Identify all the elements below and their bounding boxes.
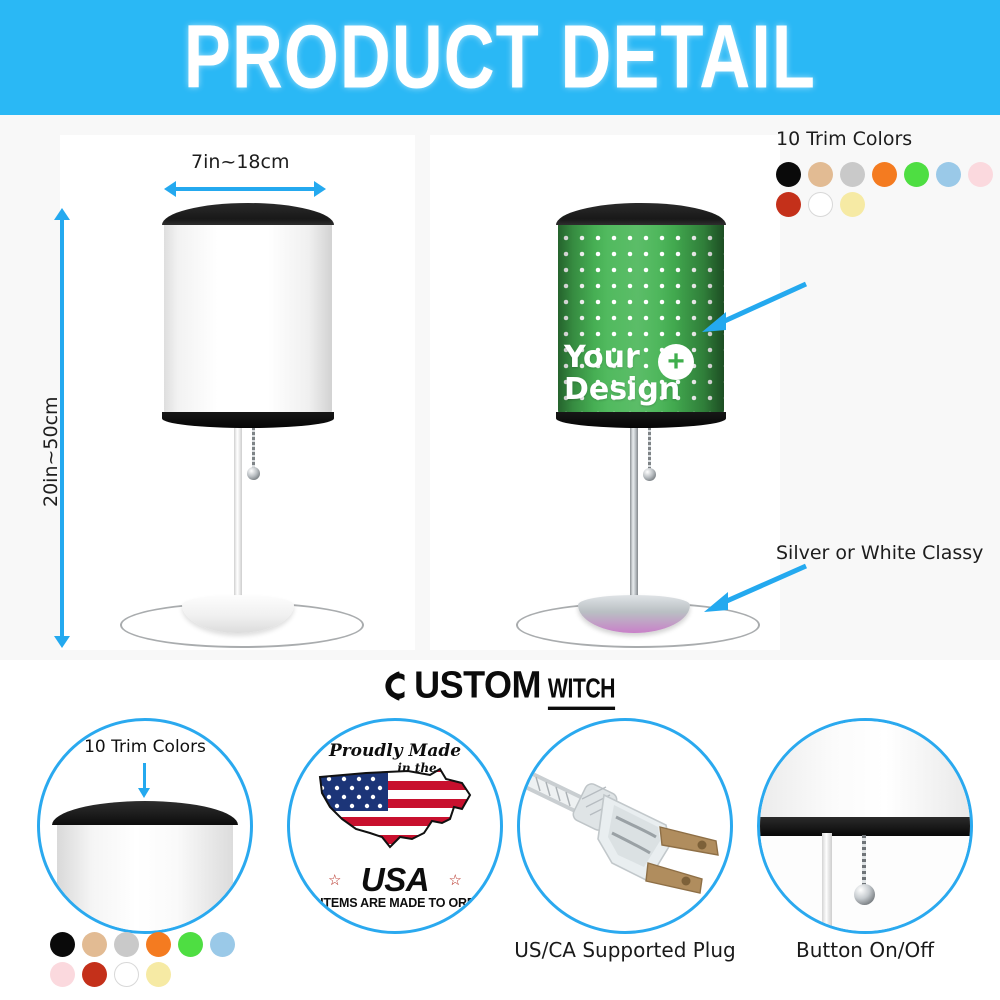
lamp-showcase: 7in~18cm 20in~50cm [0,115,1000,660]
trim-color-swatch-yellow[interactable] [840,192,865,217]
feature-trim-colors: 10 Trim Colors [20,710,270,1000]
trim-color-swatch-red[interactable] [776,192,801,217]
trim-colors-swatch-row[interactable] [776,162,1000,222]
header-banner: PRODUCT DETAIL [0,0,1000,115]
product-detail-page: PRODUCT DETAIL 7in~18cm 20in~50cm [0,0,1000,1000]
usa-badge-line1: Proudly Made [329,743,461,760]
usa-note: ALL ITEMS ARE MADE TO ORDER! [290,896,500,910]
trim-color-swatch-red[interactable] [82,962,107,987]
trim-colors-shade-closeup [52,801,238,934]
trim-color-swatch-white[interactable] [808,192,833,217]
height-dimension-label: 20in~50cm [40,396,62,507]
white-shade-trim-top [162,203,334,225]
page-title: PRODUCT DETAIL [184,13,816,103]
trim-colors-photo-circle: 10 Trim Colors [37,718,253,934]
feature-made-in-usa: Proudly Made in the [270,710,520,1000]
trim-color-swatch-gray[interactable] [114,932,139,957]
trim-color-swatch-orange[interactable] [146,932,171,957]
feature-row: 10 Trim Colors Proudly Made in the [0,710,1000,1000]
trim-color-swatch-green[interactable] [178,932,203,957]
add-design-plus-icon[interactable]: + [658,344,694,380]
trim-color-swatch-yellow[interactable] [146,962,171,987]
green-shade-trim-bottom [556,412,726,428]
width-dimension-arrow [175,187,315,191]
design-line-1: Your [564,340,640,375]
plug-photo-circle [517,718,733,934]
switch-shade-trim [757,817,973,836]
usa-flag-map-icon [312,763,480,855]
plug-caption: US/CA Supported Plug [500,938,750,962]
trim-colors-inner-label: 10 Trim Colors [40,737,250,757]
trim-color-swatch-light-blue[interactable] [210,932,235,957]
white-lamp-chain-ball[interactable] [247,467,260,480]
trim-colors-pointer-arrow [694,278,814,338]
white-shade-surface [164,214,332,420]
trim-colors-swatch-grid[interactable] [50,932,260,992]
shade-body-closeup [57,815,233,934]
width-dimension-label: 7in~18cm [191,151,289,173]
trim-color-swatch-black[interactable] [776,162,801,187]
usa-star-right-icon: ☆ [449,871,462,889]
power-plug-icon [520,721,730,931]
green-lamp-chain-ball[interactable] [643,468,656,481]
green-lamp-pole [630,425,638,613]
feature-plug: US/CA Supported Plug [500,710,750,1000]
shade-trim-closeup [52,801,238,825]
usa-star-left-icon: ☆ [328,871,341,889]
switch-caption: Button On/Off [740,938,990,962]
switch-photo-circle [757,718,973,934]
green-lamp-pull-chain[interactable] [648,427,651,471]
switch-shade-closeup [760,721,970,819]
trim-color-swatch-light-blue[interactable] [936,162,961,187]
brand-name-main: USTOM [414,663,541,708]
brand-logo: USTOM WITCH [0,662,1000,710]
switch-pull-chain[interactable] [862,835,866,887]
trim-colors-title: 10 Trim Colors [776,128,912,150]
trim-color-swatch-gray[interactable] [840,162,865,187]
trim-color-swatch-black[interactable] [50,932,75,957]
trim-color-swatch-orange[interactable] [872,162,897,187]
trim-color-swatch-tan[interactable] [808,162,833,187]
custom-c-mark-icon [379,669,413,703]
white-lamp-shade [162,203,334,428]
base-finish-pointer-arrow [694,558,814,618]
usa-word: USA [290,861,500,899]
white-lamp-pull-chain[interactable] [252,427,255,470]
trim-colors-down-arrow-icon [143,763,146,789]
trim-color-swatch-tan[interactable] [82,932,107,957]
switch-lamp-pole [822,833,832,933]
switch-chain-ball[interactable] [854,884,875,905]
feature-switch: Button On/Off [740,710,990,1000]
trim-color-swatch-pink[interactable] [50,962,75,987]
white-lamp-pole [234,425,242,613]
brand-name-sub: WITCH [548,673,615,710]
made-in-usa-badge-circle: Proudly Made in the [287,718,503,934]
trim-color-swatch-pink[interactable] [968,162,993,187]
trim-color-swatch-green[interactable] [904,162,929,187]
trim-color-swatch-white[interactable] [114,962,139,987]
white-shade-trim-bottom [162,412,334,428]
design-line-2: Design [564,372,680,407]
green-shade-trim-top [556,203,726,225]
